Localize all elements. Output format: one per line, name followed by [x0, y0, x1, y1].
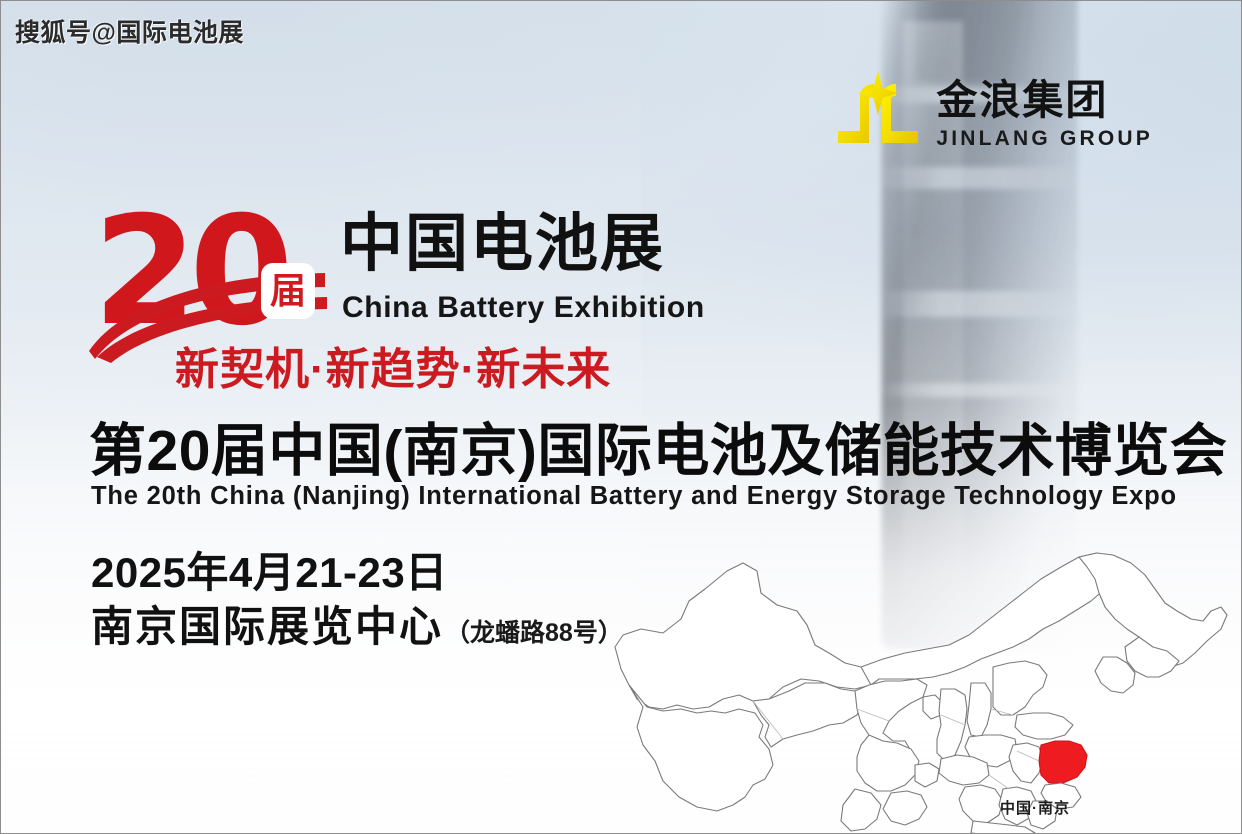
event-title-en: China Battery Exhibition: [342, 291, 705, 325]
venue-name: 南京国际展览中心: [91, 593, 443, 654]
tower-band: [877, 383, 1085, 397]
tower-band: [877, 291, 1085, 317]
edition-badge: 届: [261, 263, 315, 319]
page-title: 第20届中国(南京)国际电池及储能技术博览会: [89, 405, 1227, 487]
event-date: 2025年4月21-23日: [91, 539, 448, 600]
sponsor-name-en: JINLANG GROUP: [936, 127, 1153, 151]
map-location-label: 中国·南京: [1000, 797, 1070, 818]
page-subtitle: The 20th China (Nanjing) International B…: [91, 482, 1177, 511]
china-map: 中国·南京: [593, 549, 1242, 834]
tower-spire: [915, 0, 1035, 81]
event-slogan: 新契机·新趋势·新未来: [175, 333, 611, 397]
venue-address: （龙蟠路88号）: [445, 613, 623, 649]
event-venue: 南京国际展览中心 （龙蟠路88号）: [91, 593, 623, 654]
poster-canvas: 搜狐号@国际电池展 金浪集团 JINLANG GROUP 20: [0, 0, 1242, 834]
tower-band: [877, 167, 1085, 189]
edition-badge-label: 届: [270, 273, 306, 309]
event-logo-block: 20 届 中国电池展 China Battery Exhibition 新契机·…: [93, 215, 693, 383]
jl-monogram-sparkle-icon: [836, 71, 922, 159]
china-map-svg: [593, 549, 1242, 834]
sponsor-name-cn: 金浪集团: [936, 79, 1153, 122]
sponsor-text-block: 金浪集团 JINLANG GROUP: [936, 79, 1153, 150]
event-title-cn: 中国电池展: [340, 211, 665, 277]
watermark-text: 搜狐号@国际电池展: [15, 13, 244, 49]
sponsor-logo: 金浪集团 JINLANG GROUP: [836, 71, 1153, 159]
